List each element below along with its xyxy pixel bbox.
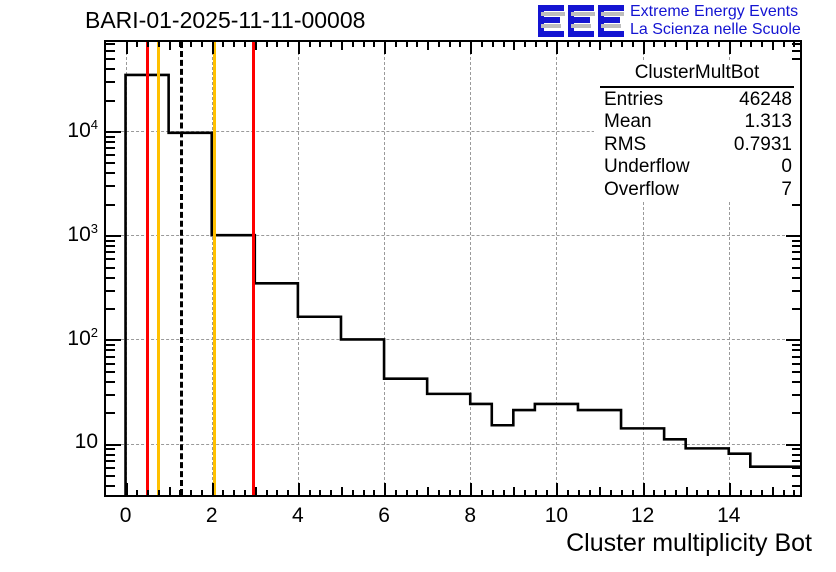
statistics-row: Mean1.313 bbox=[594, 111, 800, 134]
statistics-value: 46248 bbox=[739, 89, 792, 112]
statistics-key: Entries bbox=[604, 89, 663, 112]
statistics-value: 0.7931 bbox=[734, 134, 792, 157]
x-tick-label: 6 bbox=[354, 504, 414, 528]
statistics-key: RMS bbox=[604, 134, 646, 157]
x-tick-label: 0 bbox=[96, 504, 156, 528]
statistics-row: Overflow7 bbox=[594, 179, 800, 202]
statistics-key: Overflow bbox=[604, 179, 679, 202]
x-tick-label: 8 bbox=[440, 504, 500, 528]
root-canvas: BARI-01-2025-11-11-00008 bbox=[0, 0, 836, 572]
statistics-key: Mean bbox=[604, 111, 652, 134]
x-tick-label: 4 bbox=[268, 504, 328, 528]
x-axis-title: Cluster multiplicity Bot bbox=[0, 529, 812, 558]
statistics-row: Underflow0 bbox=[594, 156, 800, 179]
statistics-row: Entries46248 bbox=[594, 89, 800, 112]
statistics-row: RMS0.7931 bbox=[594, 134, 800, 157]
statistics-box: ClusterMultBot Entries46248Mean1.313RMS0… bbox=[594, 62, 800, 202]
statistics-key: Underflow bbox=[604, 156, 690, 179]
x-tick-label: 2 bbox=[182, 504, 242, 528]
statistics-value: 1.313 bbox=[744, 111, 792, 134]
statistics-value: 7 bbox=[781, 179, 792, 202]
statistics-rows: Entries46248Mean1.313RMS0.7931Underflow0… bbox=[594, 89, 800, 202]
x-tick-label: 14 bbox=[699, 504, 759, 528]
x-tick-label: 12 bbox=[613, 504, 673, 528]
statistics-title: ClusterMultBot bbox=[600, 62, 794, 88]
x-tick-label: 10 bbox=[526, 504, 586, 528]
statistics-value: 0 bbox=[781, 156, 792, 179]
